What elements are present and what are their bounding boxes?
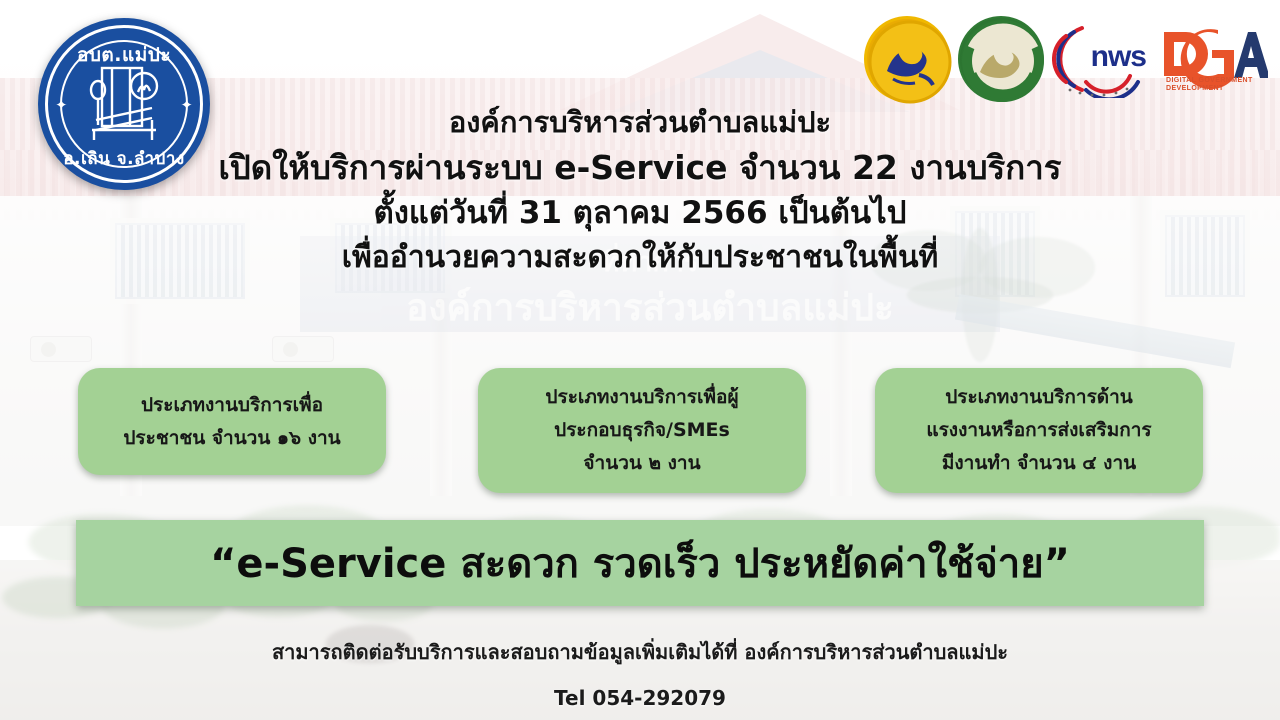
card-line: ประเภทงานบริการด้าน <box>945 381 1133 414</box>
headline-line-3: ตั้งแต่วันที่ 31 ตุลาคม 2566 เป็นต้นไป <box>190 198 1090 229</box>
footer-block: สามารถติดต่อรับบริการและสอบถามข้อมูลเพิ่… <box>0 636 1280 710</box>
footer-contact-line: สามารถติดต่อรับบริการและสอบถามข้อมูลเพิ่… <box>0 636 1280 668</box>
thai-lion-emblem-icon <box>864 16 950 102</box>
card-labor-employment-services: ประเภทงานบริการด้าน แรงงานหรือการส่งเสริ… <box>875 368 1203 493</box>
organization-seal-logo: อบต.แม่ปะ อ.เถิน จ.ลำปาง ✦ ✦ <box>38 18 210 190</box>
nws-wordmark: nws <box>1091 40 1146 74</box>
slogan-banner: “e-Service สะดวก รวดเร็ว ประหยัดค่าใช้จ่… <box>76 520 1204 606</box>
headline-line-4: เพื่ออำนวยความสะดวกให้กับประชาชนในพื้นที… <box>190 243 1090 273</box>
card-line: จำนวน ๒ งาน <box>583 447 700 480</box>
card-line: ประชาชน จำนวน ๑๖ งาน <box>123 422 340 455</box>
headline-line-1: องค์การบริหารส่วนตำบลแม่ปะ <box>190 108 1090 137</box>
poster-root: ที่ทำการ องค์การบริหารส่วนตำบลแม่ปะ อบต.… <box>0 0 1280 720</box>
weaving-loom-icon <box>82 64 166 146</box>
card-line: มีงานทำ จำนวน ๔ งาน <box>942 447 1136 480</box>
headline-block: องค์การบริหารส่วนตำบลแม่ปะ เปิดให้บริการ… <box>190 108 1090 273</box>
nws-logo: nws <box>1052 20 1148 98</box>
service-category-cards: ประเภทงานบริการเพื่อ ประชาชน จำนวน ๑๖ งา… <box>0 368 1280 498</box>
dga-subtitle: DIGITAL GOVERNMENT DEVELOPMENT <box>1166 77 1266 95</box>
seal-bottom-text: อ.เถิน จ.ลำปาง <box>38 145 210 172</box>
slogan-text: “e-Service สะดวก รวดเร็ว ประหยัดค่าใช้จ่… <box>210 531 1070 595</box>
ministry-green-seal-icon <box>958 16 1044 102</box>
seal-star-left-icon: ✦ <box>55 96 68 114</box>
footer-phone-line: Tel 054-292079 <box>0 686 1280 710</box>
partner-logos-row: nws DIGITAL GOVERNMENT DEVELOPMENT <box>864 16 1268 102</box>
card-line: แรงงานหรือการส่งเสริมการ <box>926 414 1151 447</box>
headline-line-2: เปิดให้บริการผ่านระบบ e-Service จำนวน 22… <box>190 151 1090 184</box>
card-line: ประเภทงานบริการเพื่อผู้ <box>545 381 738 414</box>
dga-logo: DIGITAL GOVERNMENT DEVELOPMENT <box>1156 22 1268 96</box>
card-line: ประเภทงานบริการเพื่อ <box>141 389 323 422</box>
card-line: ประกอบธุรกิจ/SMEs <box>554 414 730 447</box>
card-business-sme-services: ประเภทงานบริการเพื่อผู้ ประกอบธุรกิจ/SME… <box>478 368 806 493</box>
card-citizen-services: ประเภทงานบริการเพื่อ ประชาชน จำนวน ๑๖ งา… <box>78 368 386 475</box>
